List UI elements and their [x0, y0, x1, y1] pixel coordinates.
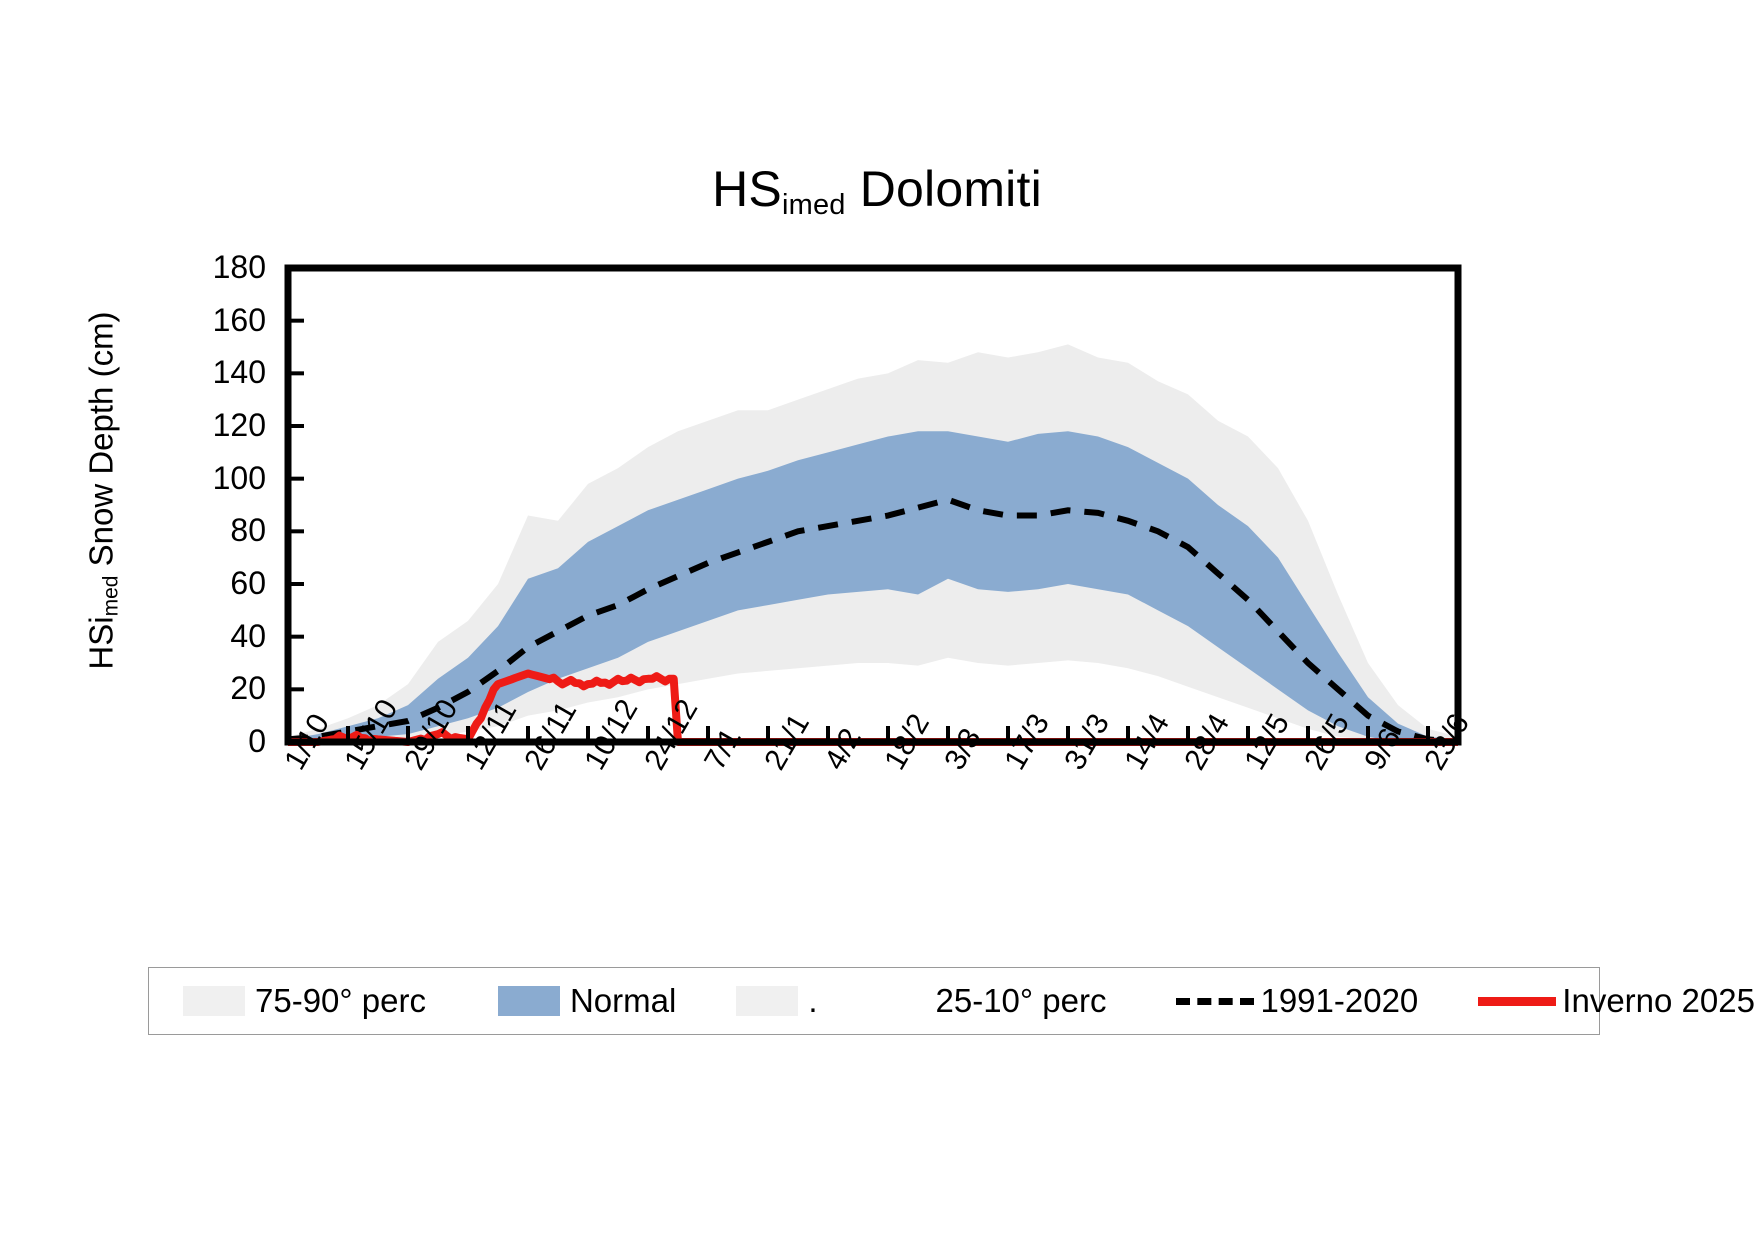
- legend-label: 25-10° perc: [936, 982, 1107, 1020]
- y-tick-label: 60: [196, 567, 266, 599]
- legend-item[interactable]: 75-90° perc: [183, 982, 426, 1020]
- legend-solid-line-icon: [1478, 997, 1556, 1006]
- y-tick-label: 40: [196, 620, 266, 652]
- legend-item[interactable]: 25-10° perc: [864, 982, 1107, 1020]
- legend-color-swatch: [864, 986, 926, 1016]
- legend-label: 1991-2020: [1260, 982, 1418, 1020]
- legend-dashed-line-icon: [1176, 998, 1254, 1005]
- legend-label: .: [808, 982, 817, 1020]
- legend-item[interactable]: Normal: [498, 982, 676, 1020]
- y-tick-label: 80: [196, 514, 266, 546]
- legend-color-swatch: [736, 986, 798, 1016]
- legend-label: Inverno 2025-26: [1562, 982, 1754, 1020]
- legend-color-swatch: [498, 986, 560, 1016]
- y-tick-label: 160: [196, 304, 266, 336]
- legend-label: Normal: [570, 982, 676, 1020]
- legend-label: 75-90° perc: [255, 982, 426, 1020]
- y-tick-label: 0: [196, 725, 266, 757]
- y-tick-label: 140: [196, 356, 266, 388]
- legend-item[interactable]: Inverno 2025-26: [1478, 982, 1754, 1020]
- percentile-bands: [288, 344, 1458, 742]
- legend-color-swatch: [183, 986, 245, 1016]
- chart-legend: 75-90° percNormal.25-10° perc1991-2020In…: [148, 967, 1600, 1035]
- legend-item[interactable]: .: [736, 982, 817, 1020]
- y-tick-label: 180: [196, 251, 266, 283]
- y-tick-label: 120: [196, 409, 266, 441]
- legend-item[interactable]: 1991-2020: [1176, 982, 1418, 1020]
- y-tick-label: 100: [196, 462, 266, 494]
- y-tick-label: 20: [196, 672, 266, 704]
